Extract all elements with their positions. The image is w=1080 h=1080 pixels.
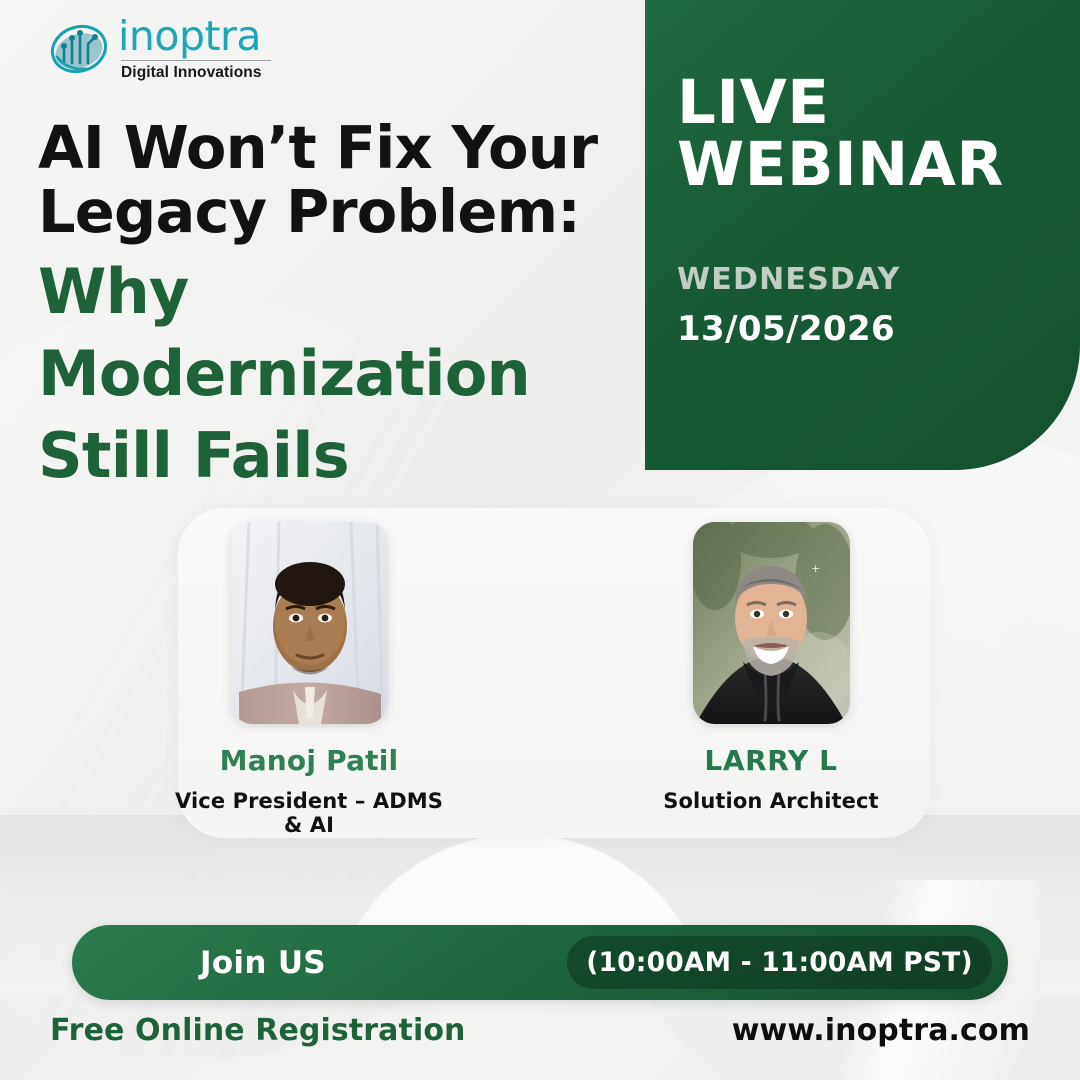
avatar: + bbox=[693, 522, 850, 724]
circuit-swoosh-icon bbox=[48, 19, 110, 77]
speaker-role: Vice President – ADMS & AI bbox=[164, 789, 454, 837]
portrait-larry-l: + bbox=[693, 522, 850, 724]
badge-webinar: WEBINAR bbox=[677, 134, 1044, 196]
speaker-role: Solution Architect bbox=[626, 789, 916, 813]
logo-wordmark: inoptra bbox=[118, 16, 271, 57]
speaker-card-1: Manoj Patil Vice President – ADMS & AI bbox=[164, 522, 454, 837]
registration-label: Free Online Registration bbox=[50, 1013, 466, 1048]
website-url[interactable]: www.inoptra.com bbox=[732, 1013, 1030, 1048]
speaker-name: LARRY L bbox=[626, 744, 916, 777]
join-us-bar[interactable]: Join US (10:00AM - 11:00AM PST) bbox=[72, 925, 1008, 1000]
live-webinar-panel: LIVE WEBINAR WEDNESDAY 13/05/2026 bbox=[645, 0, 1080, 470]
headline-line-1: AI Won’t Fix Your bbox=[38, 116, 638, 180]
logo-divider bbox=[121, 60, 271, 61]
brand-logo[interactable]: inoptra Digital Innovations bbox=[48, 16, 271, 81]
speakers-row: Manoj Patil Vice President – ADMS & AI bbox=[0, 522, 1080, 837]
date-block: WEDNESDAY 13/05/2026 bbox=[677, 262, 1044, 349]
headline-accent-1: Why bbox=[38, 259, 638, 325]
event-weekday: WEDNESDAY bbox=[677, 262, 1044, 297]
headline-line-2: Legacy Problem: bbox=[38, 180, 638, 244]
footer: Free Online Registration www.inoptra.com bbox=[0, 1013, 1080, 1048]
headline-accent-2: Modernization bbox=[38, 341, 638, 407]
headline-block: AI Won’t Fix Your Legacy Problem: Why Mo… bbox=[38, 116, 638, 489]
webinar-time-label: (10:00AM - 11:00AM PST) bbox=[586, 947, 973, 978]
join-us-label: Join US bbox=[200, 945, 326, 981]
webinar-poster: inoptra Digital Innovations LIVE WEBINAR… bbox=[0, 0, 1080, 1080]
speaker-card-2: + LARRY L Solution Architect bbox=[626, 522, 916, 837]
portrait-manoj-patil bbox=[231, 522, 388, 724]
svg-text:+: + bbox=[811, 562, 820, 575]
headline-accent-3: Still Fails bbox=[38, 423, 638, 489]
avatar bbox=[231, 522, 388, 724]
webinar-time-pill: (10:00AM - 11:00AM PST) bbox=[567, 936, 992, 989]
logo-tagline: Digital Innovations bbox=[121, 65, 271, 81]
speaker-name: Manoj Patil bbox=[164, 744, 454, 777]
badge-live: LIVE bbox=[677, 72, 1044, 134]
event-date: 13/05/2026 bbox=[677, 309, 1044, 349]
